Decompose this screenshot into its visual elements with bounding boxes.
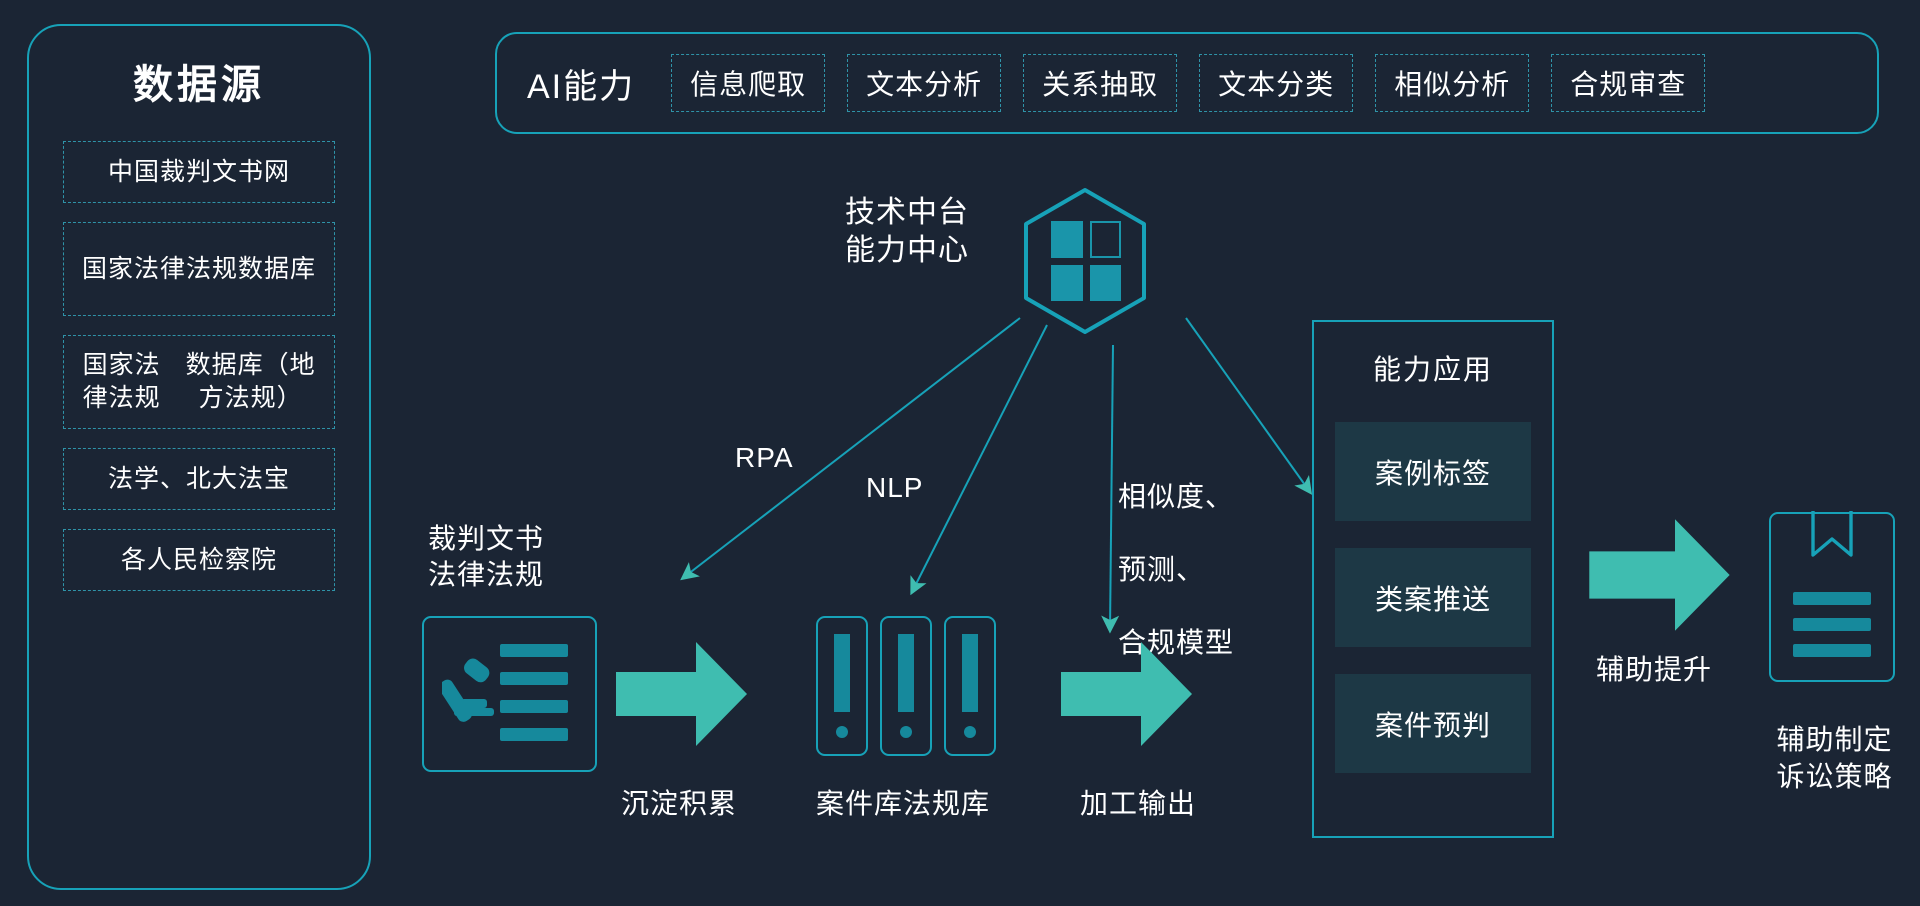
result-document-line — [1793, 592, 1871, 605]
judgment-doc-label: 裁判文书 法律法规 — [428, 521, 544, 594]
server-rack-icon — [816, 616, 868, 756]
ai-capability-bar: AI能力 信息爬取文本分析关系抽取文本分类相似分析合规审查 — [495, 32, 1879, 134]
data-source-title: 数据源 — [133, 63, 265, 107]
server-rack-icon — [944, 616, 996, 756]
document-line — [500, 644, 568, 657]
ai-capability-tag-list: 信息爬取文本分析关系抽取文本分类相似分析合规审查 — [671, 54, 1705, 112]
hexagon-square-1 — [1051, 221, 1083, 258]
data-source-item-label: 国家法律法规 — [82, 253, 238, 286]
ai-capability-tag[interactable]: 文本分类 — [1199, 54, 1353, 112]
capability-application-item[interactable]: 案例标签 — [1335, 422, 1531, 521]
result-label: 辅助制定 诉讼策略 — [1762, 722, 1907, 796]
server-rack-icon — [880, 616, 932, 756]
judgment-doc-label-line2: 法律法规 — [428, 559, 544, 590]
hexagon-square-3 — [1051, 265, 1083, 302]
data-source-item[interactable]: 各人民检察院 — [63, 529, 335, 591]
connector-label-rpa: RPA — [735, 440, 794, 476]
capability-application-title: 能力应用 — [1373, 348, 1493, 388]
hexagon-square-2 — [1090, 221, 1122, 258]
server-rack-icon-group — [816, 616, 996, 756]
pipeline-step3-label: 辅助提升 — [1596, 648, 1712, 688]
right-arrow-icon-step2 — [1061, 638, 1193, 755]
document-line — [500, 700, 568, 713]
result-document-line — [1793, 644, 1871, 657]
result-label-line2: 诉讼策略 — [1776, 761, 1892, 792]
document-line — [500, 672, 568, 685]
connector-label-nlp: NLP — [866, 470, 923, 506]
ai-capability-tag[interactable]: 合规审查 — [1551, 54, 1705, 112]
capability-application-panel: 能力应用 案例标签类案推送案件预判 — [1312, 320, 1554, 838]
server-rack-bar — [834, 634, 850, 712]
pipeline-step2-label: 加工输出 — [1080, 782, 1196, 822]
data-source-item-label: 各人民检察院 — [121, 544, 277, 577]
server-rack-bar — [962, 634, 978, 712]
hexagon-grid-icon — [1020, 186, 1150, 336]
ai-capability-tag[interactable]: 信息爬取 — [671, 54, 825, 112]
capability-application-items: 案例标签类案推送案件预判 — [1314, 422, 1552, 773]
data-source-item-label: 数据库 — [238, 253, 316, 286]
data-source-item-label: 中国裁判文书网 — [108, 156, 290, 189]
diagram-canvas: 数据源 中国裁判文书网国家法律法规数据库国家法律法规数据库（地方法规）法学、北大… — [0, 0, 1920, 906]
gavel-document-icon — [422, 616, 597, 772]
tech-center-label-line2: 能力中心 — [845, 234, 969, 267]
bookmark-icon — [1809, 511, 1855, 563]
data-source-list: 中国裁判文书网国家法律法规数据库国家法律法规数据库（地方法规）法学、北大法宝各人… — [29, 141, 369, 591]
server-rack-dot — [900, 726, 912, 738]
connector-label-model: 相似度、 预测、 合规模型 — [1118, 443, 1234, 661]
right-arrow-icon-step1 — [616, 638, 748, 755]
capability-application-item[interactable]: 类案推送 — [1335, 548, 1531, 647]
result-document-lines — [1793, 592, 1871, 657]
document-line — [500, 728, 568, 741]
ai-capability-tag[interactable]: 文本分析 — [847, 54, 1001, 112]
judgment-doc-label-line1: 裁判文书 — [428, 523, 544, 554]
data-source-item[interactable]: 法学、北大法宝 — [63, 448, 335, 510]
case-database-label: 案件库法规库 — [816, 782, 990, 822]
server-rack-dot — [964, 726, 976, 738]
result-label-line1: 辅助制定 — [1776, 724, 1892, 755]
ai-capability-tag[interactable]: 相似分析 — [1375, 54, 1529, 112]
server-rack-bar — [898, 634, 914, 712]
pipeline-step1-label: 沉淀积累 — [621, 782, 737, 822]
tech-center-label-line1: 技术中台 — [845, 196, 969, 229]
ai-capability-title: AI能力 — [527, 59, 635, 108]
data-source-item[interactable]: 国家法律法规数据库（地方法规） — [63, 335, 335, 429]
ai-capability-tag[interactable]: 关系抽取 — [1023, 54, 1177, 112]
data-source-item-label: 法学、北大法宝 — [108, 463, 290, 496]
server-rack-dot — [836, 726, 848, 738]
document-lines — [500, 644, 568, 741]
right-arrow-icon-step3 — [1589, 515, 1731, 640]
data-source-panel: 数据源 中国裁判文书网国家法律法规数据库国家法律法规数据库（地方法规）法学、北大… — [27, 24, 371, 890]
result-document-line — [1793, 618, 1871, 631]
data-source-item[interactable]: 国家法律法规数据库 — [63, 222, 335, 316]
gavel-icon — [442, 652, 498, 732]
bookmark-document-icon — [1769, 512, 1895, 682]
data-source-item-label: 数据库（地方法规） — [173, 349, 328, 415]
capability-application-item[interactable]: 案件预判 — [1335, 674, 1531, 773]
data-source-item[interactable]: 中国裁判文书网 — [63, 141, 335, 203]
hexagon-square-4 — [1090, 265, 1122, 302]
tech-center-label: 技术中台 能力中心 — [845, 194, 969, 271]
data-source-item-label: 国家法律法规 — [70, 349, 173, 415]
